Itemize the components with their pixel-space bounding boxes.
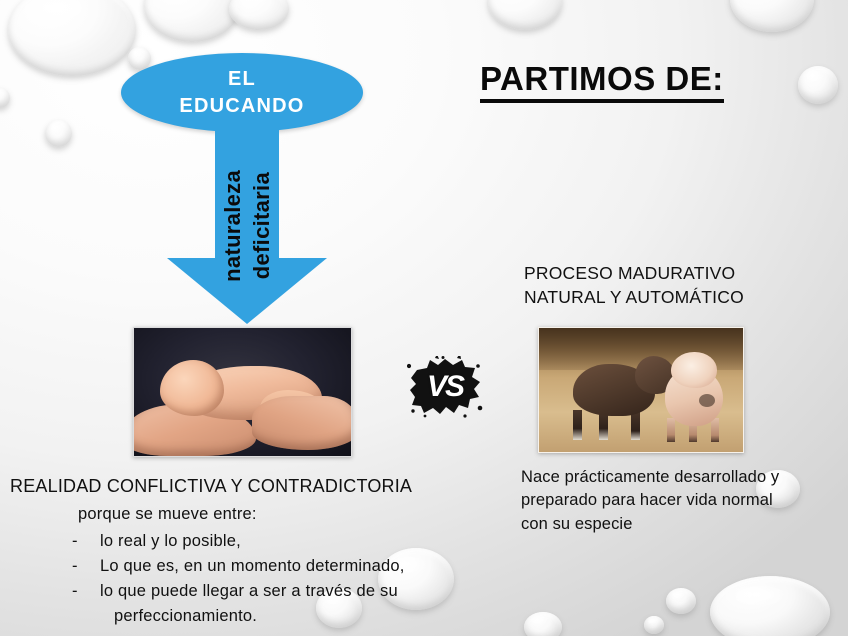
el-educando-ellipse: EL EDUCANDO: [121, 53, 363, 132]
newborn-baby-photo: [133, 327, 352, 457]
water-droplet-icon: [710, 576, 830, 636]
water-droplet-icon: [8, 0, 136, 76]
realidad-bullet-item: -lo real y lo posible,: [72, 529, 480, 554]
water-droplet-icon: [488, 0, 562, 30]
water-droplet-icon: [144, 0, 240, 42]
baby-head-shape: [160, 360, 224, 416]
proceso-line-2: NATURAL Y AUTOMÁTICO: [524, 286, 824, 310]
bullet-dash: -: [72, 554, 80, 579]
realidad-text-block: REALIDAD CONFLICTIVA Y CONTRADICTORIA po…: [10, 476, 480, 629]
realidad-bullet-item: -lo que puede llegar a ser a través de s…: [72, 579, 480, 604]
page-title: PARTIMOS DE:: [480, 62, 724, 103]
water-droplet-icon: [798, 66, 838, 104]
arrow-label-line-1: naturaleza: [220, 170, 246, 282]
water-droplet-icon: [666, 588, 696, 614]
hand-right-shape: [252, 396, 352, 450]
water-droplet-icon: [45, 120, 72, 147]
piglets-photo: [538, 327, 744, 453]
realidad-heading: REALIDAD CONFLICTIVA Y CONTRADICTORIA: [10, 476, 480, 498]
light-piglet-head-shape: [671, 352, 717, 388]
realidad-bullet-list: -lo real y lo posible,-Lo que es, en un …: [10, 529, 480, 604]
realidad-bullet-item: -Lo que es, en un momento determinado,: [72, 554, 480, 579]
nace-line-1: Nace prácticamente desarrollado y: [521, 466, 841, 489]
nace-description-text: Nace prácticamente desarrollado y prepar…: [521, 466, 841, 536]
proceso-madurativo-label: PROCESO MADURATIVO NATURAL Y AUTOMÁTICO: [524, 262, 824, 309]
nace-line-3: con su especie: [521, 513, 841, 536]
versus-label: VS: [407, 356, 483, 418]
down-arrow-shape: naturaleza deficitaria: [167, 128, 327, 324]
bullet-text: Lo que es, en un momento determinado,: [100, 554, 405, 579]
water-droplet-icon: [0, 88, 10, 108]
proceso-line-1: PROCESO MADURATIVO: [524, 262, 824, 286]
arrow-label-line-2: deficitaria: [249, 172, 275, 279]
realidad-bullet-continuation: perfeccionamiento.: [114, 604, 480, 629]
arrow-label-group: naturaleza deficitaria: [167, 128, 327, 324]
ellipse-line-2: EDUCANDO: [179, 93, 304, 119]
water-droplet-icon: [524, 612, 562, 636]
water-droplet-icon: [644, 616, 664, 634]
realidad-subheading: porque se mueve entre:: [78, 505, 480, 524]
nace-line-2: preparado para hacer vida normal: [521, 489, 841, 512]
water-droplet-icon: [229, 0, 289, 30]
ellipse-line-1: EL: [228, 66, 256, 92]
water-droplet-icon: [730, 0, 814, 32]
slide-canvas: PARTIMOS DE: EL EDUCANDO naturaleza defi…: [0, 0, 848, 636]
piglet-spot-shape: [699, 394, 715, 407]
bullet-dash: -: [72, 579, 80, 604]
bullet-dash: -: [72, 529, 80, 554]
bullet-text: lo real y lo posible,: [100, 529, 241, 554]
bullet-text: lo que puede llegar a ser a través de su: [100, 579, 398, 604]
versus-badge: VS: [407, 356, 483, 418]
